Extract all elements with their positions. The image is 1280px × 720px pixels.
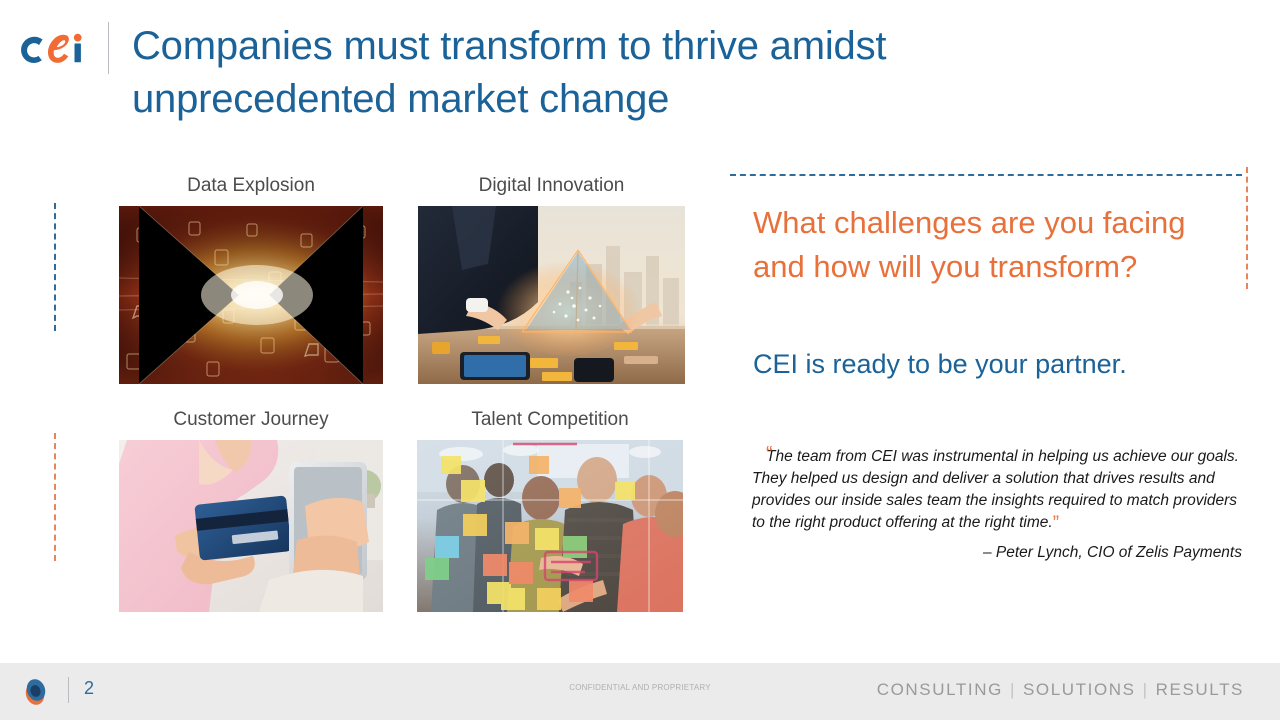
card-talent-competition[interactable]: Talent Competition bbox=[417, 440, 683, 612]
slide-canvas: Companies must transform to thrive amids… bbox=[0, 0, 1280, 720]
card-label: Digital Innovation bbox=[418, 176, 685, 195]
right-panel-top-dashed-rule bbox=[730, 174, 1242, 176]
data-explosion-image bbox=[119, 206, 383, 384]
footer-tagline: CONSULTING|SOLUTIONS|RESULTS bbox=[877, 679, 1244, 701]
cei-logo[interactable] bbox=[18, 26, 90, 72]
tagline-separator-1: | bbox=[1003, 680, 1023, 699]
tagline-separator-2: | bbox=[1136, 680, 1156, 699]
card-label: Customer Journey bbox=[119, 410, 383, 429]
card-label: Data Explosion bbox=[119, 176, 383, 195]
page-title-line-1: Companies must transform to thrive amids… bbox=[132, 20, 1032, 73]
logo-divider bbox=[108, 22, 109, 74]
slide-footer: 2 CONFIDENTIAL AND PROPRIETARY CONSULTIN… bbox=[0, 663, 1280, 720]
left-accent-dashed-orange bbox=[54, 433, 56, 561]
page-title-line-2: unprecedented market change bbox=[132, 73, 1032, 126]
tagline-consulting: CONSULTING bbox=[877, 680, 1003, 699]
card-data-explosion[interactable]: Data Explosion bbox=[119, 206, 383, 384]
testimonial-attribution: – Peter Lynch, CIO of Zelis Payments bbox=[752, 543, 1242, 563]
digital-innovation-image bbox=[418, 206, 685, 384]
card-label: Talent Competition bbox=[417, 410, 683, 429]
left-accent-dashed-blue bbox=[54, 203, 56, 331]
quote-close-icon: ” bbox=[1053, 513, 1059, 534]
card-customer-journey[interactable]: Customer Journey bbox=[119, 440, 383, 612]
tagline-solutions: SOLUTIONS bbox=[1023, 680, 1136, 699]
challenge-question-line-1: What challenges are you facing bbox=[753, 201, 1253, 245]
challenge-question-line-2: and how will you transform? bbox=[753, 245, 1253, 289]
testimonial-text: “The team from CEI was instrumental in h… bbox=[752, 446, 1242, 534]
testimonial: “The team from CEI was instrumental in h… bbox=[752, 446, 1242, 563]
tagline-results: RESULTS bbox=[1156, 680, 1244, 699]
card-digital-innovation[interactable]: Digital Innovation bbox=[418, 206, 685, 384]
customer-journey-image bbox=[119, 440, 383, 612]
talent-competition-image bbox=[417, 440, 683, 612]
testimonial-body: The team from CEI was instrumental in he… bbox=[752, 448, 1239, 531]
cei-mark-icon bbox=[20, 677, 50, 707]
partner-statement: CEI is ready to be your partner. bbox=[753, 347, 1253, 382]
challenge-question: What challenges are you facing and how w… bbox=[753, 201, 1253, 289]
page-title: Companies must transform to thrive amids… bbox=[132, 20, 1032, 126]
